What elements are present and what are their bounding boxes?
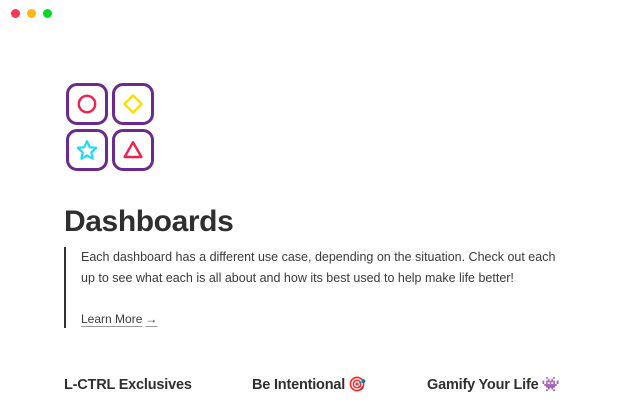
icon-tile-diamond[interactable]	[112, 83, 154, 125]
circle-icon	[76, 93, 98, 115]
section-label: L-CTRL Exclusives	[64, 377, 192, 393]
window-titlebar	[0, 0, 640, 26]
learn-more-link[interactable]: Learn More→	[81, 311, 157, 327]
section-label: Be Intentional	[252, 377, 345, 393]
section-heading-l-ctrl-exclusives[interactable]: L-CTRL Exclusives	[64, 375, 252, 395]
section-heading-be-intentional[interactable]: Be Intentional🎯	[252, 375, 427, 395]
hero-quote-block: Each dashboard has a different use case,…	[64, 247, 564, 328]
star-icon	[76, 139, 98, 161]
dashboard-icon-grid	[66, 83, 154, 171]
arrow-right-icon: →	[145, 312, 157, 326]
alien-monster-icon: 👾	[541, 377, 559, 393]
icon-tile-circle[interactable]	[66, 83, 108, 125]
icon-tile-triangle[interactable]	[112, 129, 154, 171]
direct-hit-icon: 🎯	[348, 377, 366, 393]
section-heading-row: L-CTRL Exclusives Be Intentional🎯 Gamify…	[64, 375, 576, 395]
hero-description: Each dashboard has a different use case,…	[81, 247, 566, 289]
learn-more-label: Learn More	[81, 312, 142, 326]
section-heading-gamify-your-life[interactable]: Gamify Your Life👾	[427, 375, 576, 395]
page-title: Dashboards	[64, 205, 233, 239]
window-close-button[interactable]	[11, 9, 20, 18]
page-content: Dashboards Each dashboard has a differen…	[0, 26, 640, 400]
section-label: Gamify Your Life	[427, 377, 538, 393]
icon-tile-star[interactable]	[66, 129, 108, 171]
diamond-icon	[122, 93, 144, 115]
window-minimize-button[interactable]	[27, 9, 36, 18]
window-maximize-button[interactable]	[43, 9, 52, 18]
triangle-icon	[122, 139, 144, 161]
